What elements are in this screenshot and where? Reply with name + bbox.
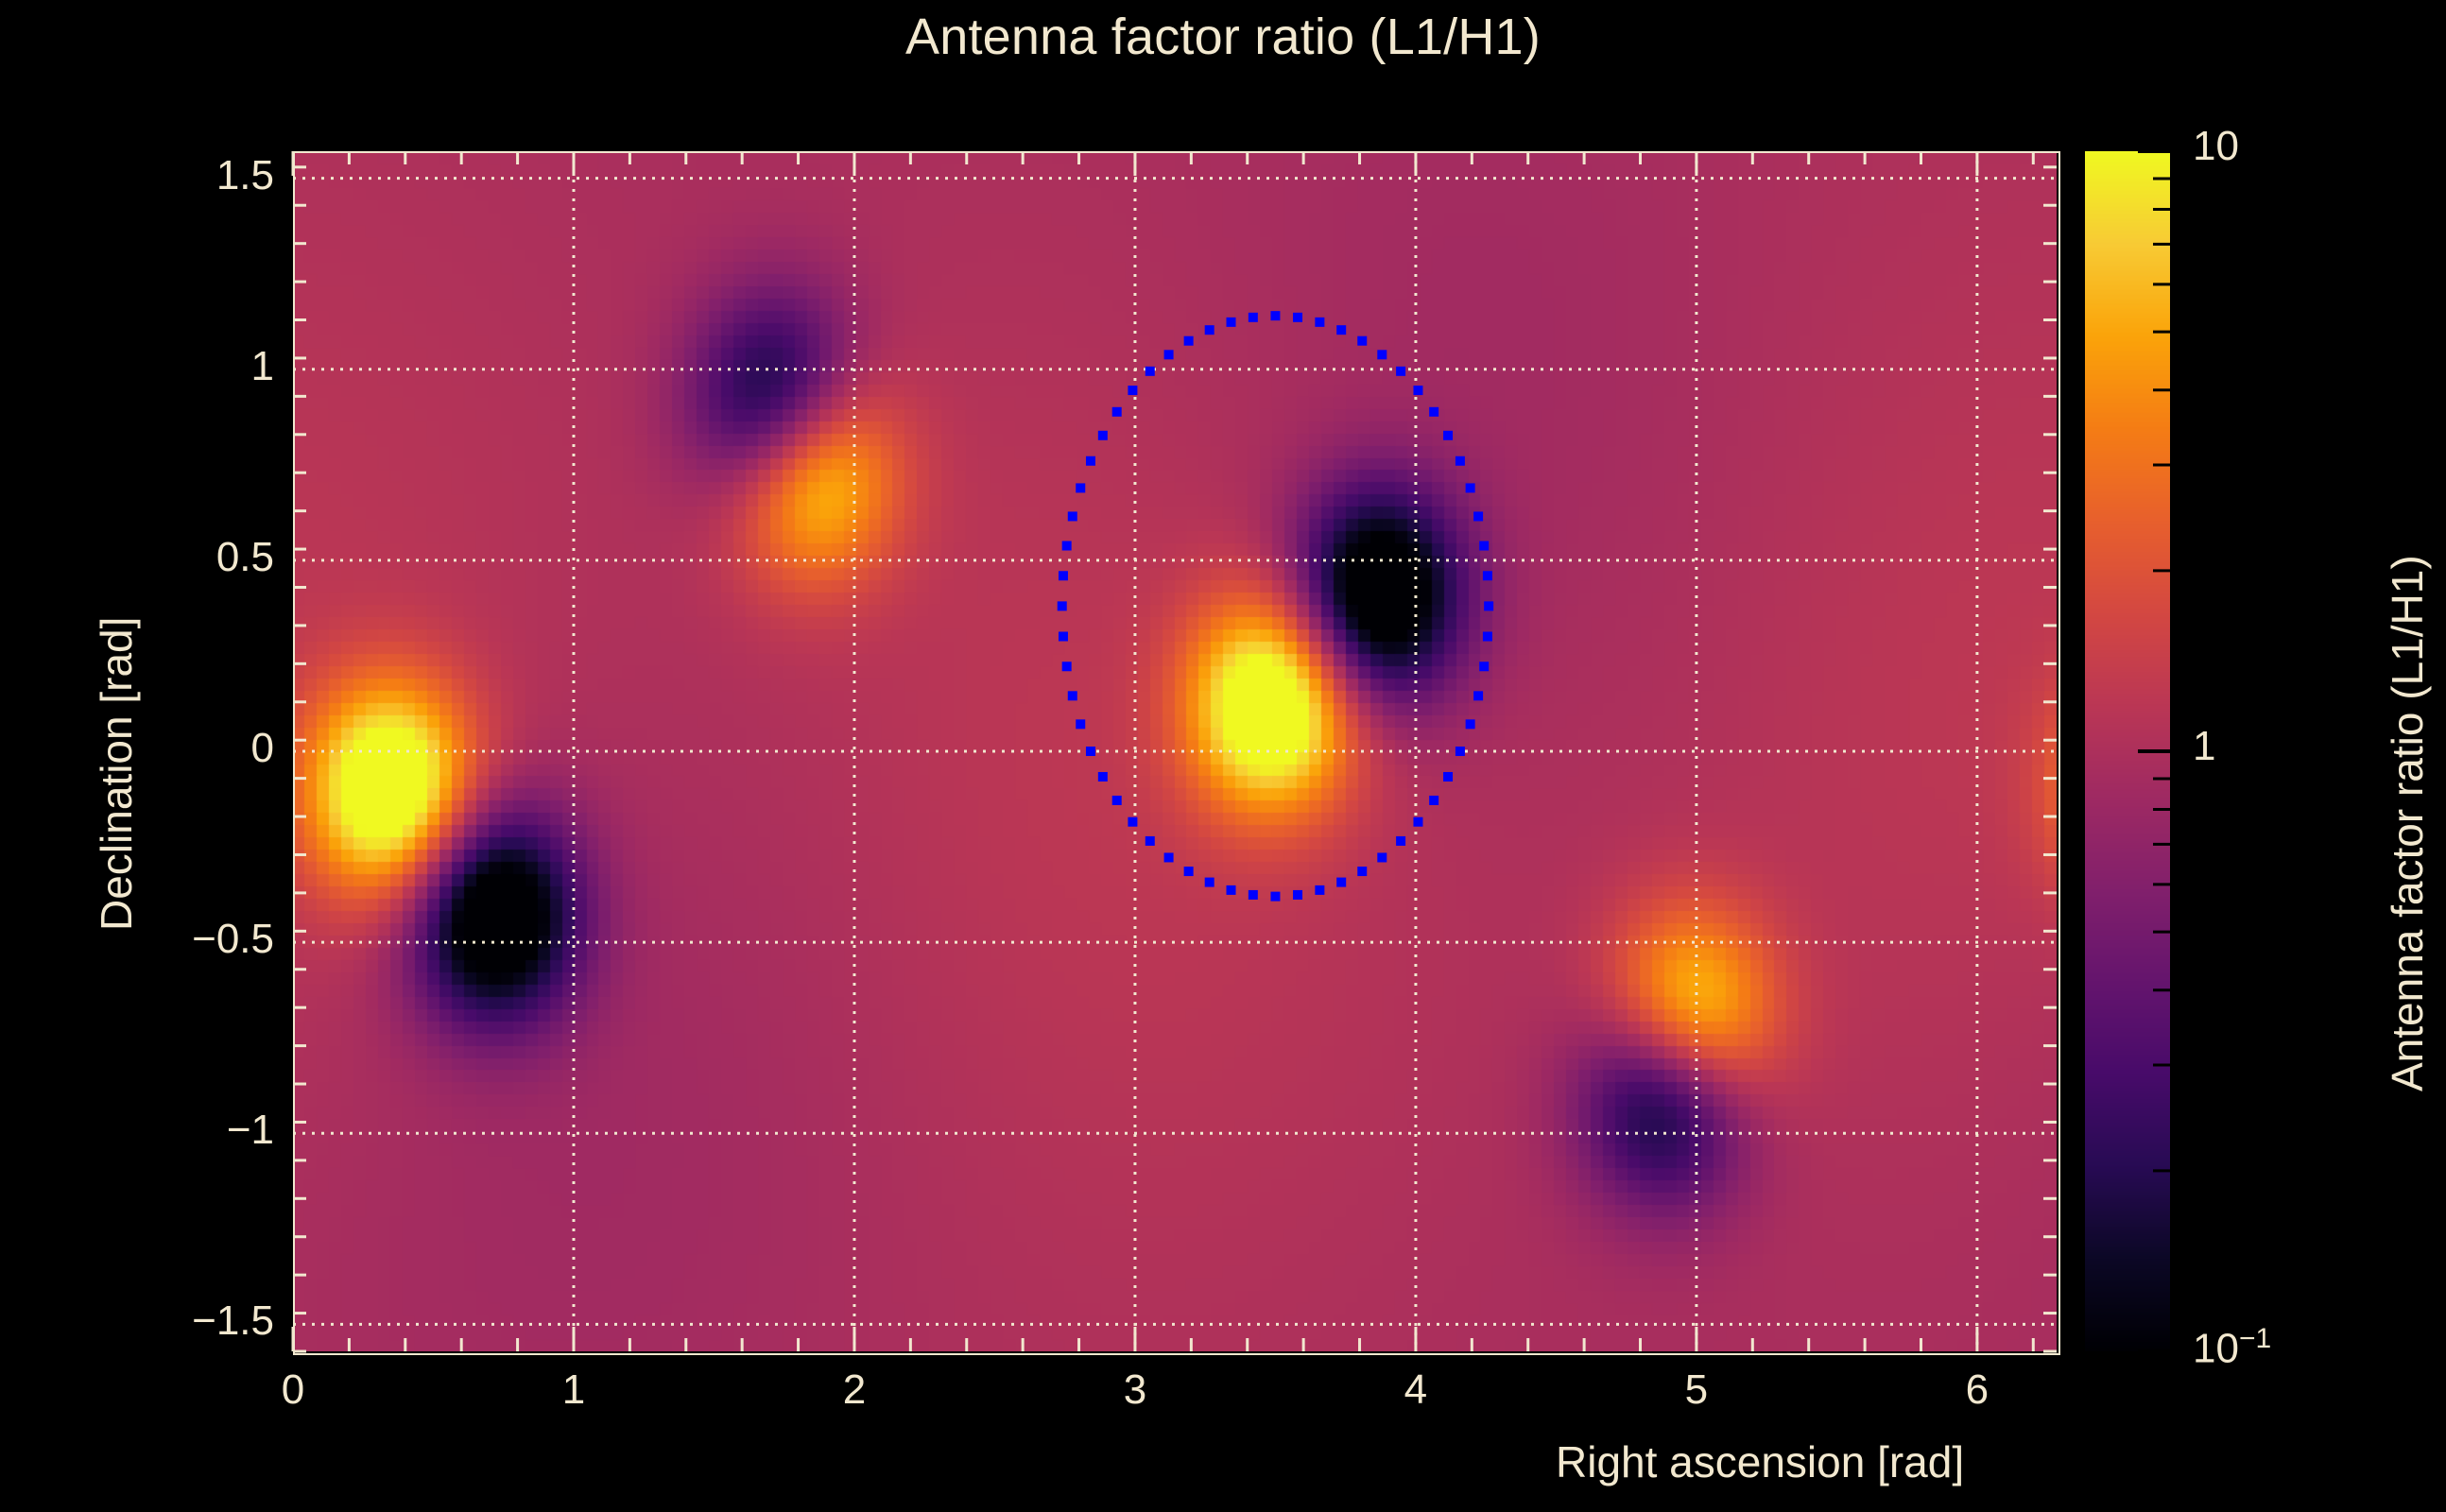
y-axis-tick-label: −1.5: [123, 1297, 274, 1345]
colorbar-title: Antenna factor ratio (L1/H1): [2382, 555, 2433, 1091]
x-axis-tick-label: 3: [1078, 1366, 1192, 1414]
y-axis-tick-label: 0: [123, 725, 274, 772]
y-axis-tick-label: 1.5: [123, 152, 274, 199]
colorbar-tick-label: 10−1: [2193, 1323, 2271, 1373]
x-axis-tick-label: 6: [1921, 1366, 2034, 1414]
heatmap-plot-area[interactable]: [293, 151, 2057, 1351]
x-axis-tick-label: 1: [517, 1366, 630, 1414]
colorbar[interactable]: [2085, 151, 2170, 1351]
y-axis-tick-label: −0.5: [123, 916, 274, 963]
plot-root: Antenna factor ratio (L1/H1) 1.510.50−0.…: [0, 0, 2446, 1512]
colorbar-tick-label: 1: [2193, 723, 2215, 770]
page-title: Antenna factor ratio (L1/H1): [0, 8, 2446, 66]
colorbar-gradient: [2085, 151, 2170, 1351]
x-axis-tick-label: 2: [798, 1366, 911, 1414]
x-axis-title: Right ascension [rad]: [1556, 1436, 1964, 1487]
y-axis-tick-label: −1: [123, 1107, 274, 1154]
x-axis-tick-label: 5: [1640, 1366, 1753, 1414]
y-axis-tick-label: 0.5: [123, 534, 274, 581]
x-axis-tick-label: 0: [236, 1366, 350, 1414]
colorbar-tick-label: 10: [2193, 123, 2239, 170]
y-axis-tick-label: 1: [123, 343, 274, 390]
x-axis-tick-label: 4: [1359, 1366, 1473, 1414]
heatmap-canvas: [293, 151, 2057, 1351]
y-axis-title: Declination [rad]: [91, 617, 142, 931]
